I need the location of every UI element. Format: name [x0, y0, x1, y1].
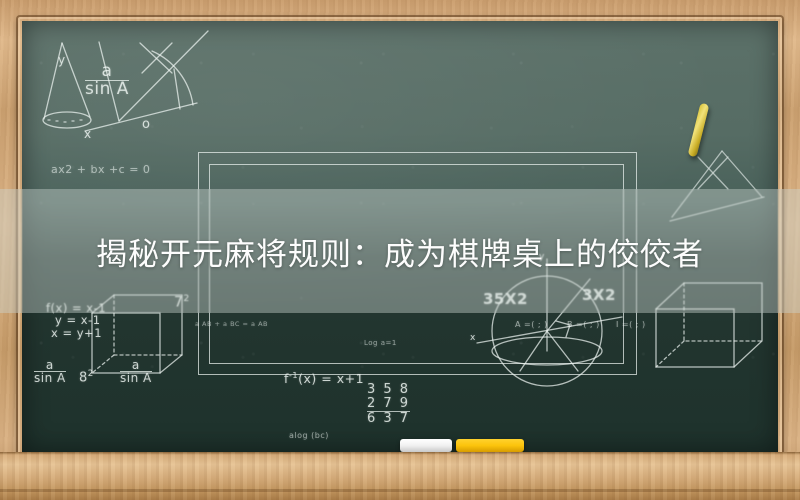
eight-base: 8	[79, 370, 88, 385]
digit-grid: 3 5 8 2 7 9 6 3 7	[367, 383, 410, 426]
law-of-sines-denominator: sin A	[85, 81, 129, 98]
eight-exponent: 2	[88, 369, 94, 379]
law-of-sines-topleft: a sin A	[85, 63, 129, 99]
axis-y-label-topleft: y	[58, 53, 66, 67]
cover-image-stage: y x o a sin A ax2 + bx +c = 0 f(x) = x-1…	[0, 0, 800, 500]
axis-x-label-topleft: x	[84, 127, 92, 141]
function-line-2: y = x-1	[46, 314, 106, 326]
cone-drawing	[43, 43, 91, 128]
chalkboard-ledge	[0, 452, 800, 500]
function-line-3: x = y+1	[46, 327, 106, 339]
digit-row-1: 3 5 8	[367, 383, 410, 397]
digit-row-3: 6 3 7	[367, 411, 410, 426]
chalk-piece-white	[400, 439, 452, 452]
chalk-stick-yellow	[688, 103, 710, 158]
chalk-piece-yellow	[456, 439, 524, 452]
sine-denominator-left: sin A	[34, 372, 66, 384]
page-title: 揭秘开元麻将规则：成为棋牌桌上的佼佼者	[0, 189, 800, 313]
law-of-sines-under-cube: a sin A	[120, 359, 152, 384]
quadratic-equation-text: ax2 + bx +c = 0	[51, 163, 150, 176]
ledge-lip	[0, 489, 800, 492]
angle-label-topleft: o	[142, 117, 150, 132]
digit-row-2: 2 7 9	[367, 397, 410, 411]
law-of-sines-bottomleft: a sin A	[34, 359, 66, 384]
eight-squared: 82	[79, 369, 94, 385]
cube-label-denominator: sin A	[120, 372, 152, 384]
log-product-note: alog (bc)	[289, 431, 329, 440]
